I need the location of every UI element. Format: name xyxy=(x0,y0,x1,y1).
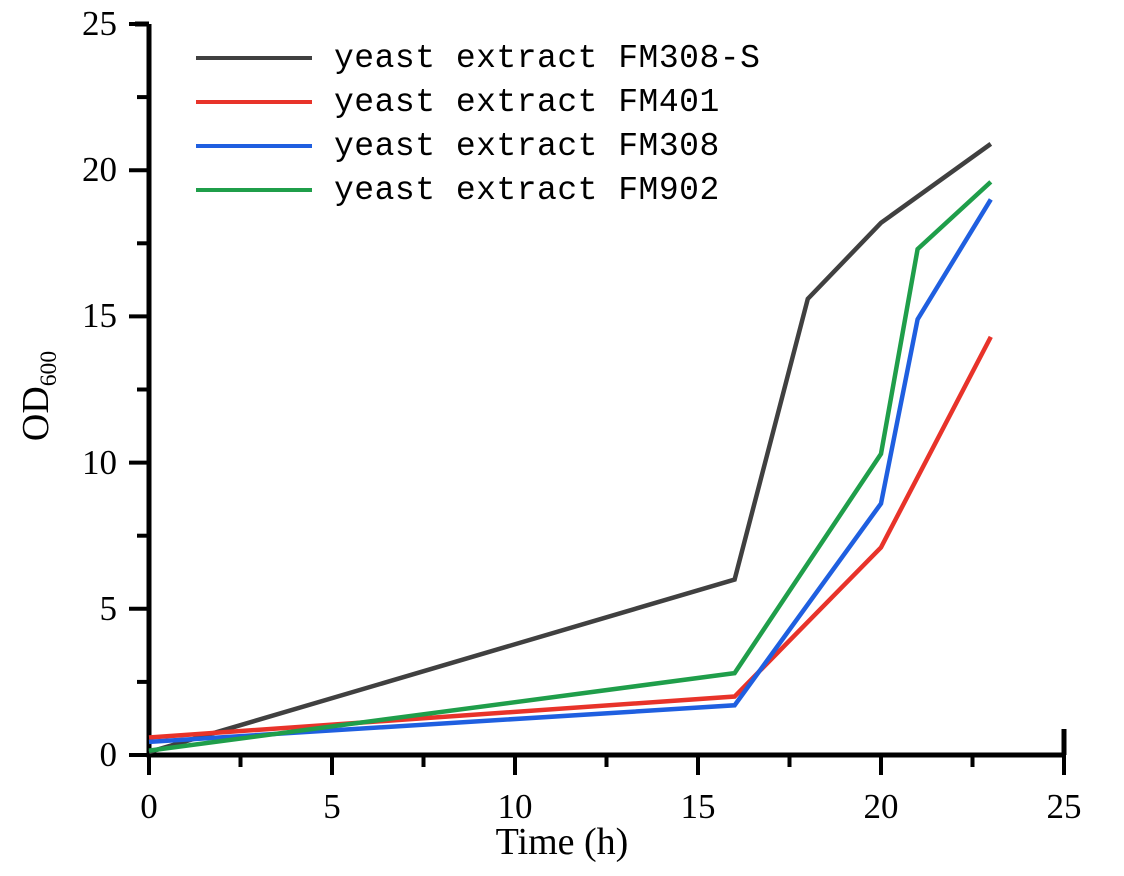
series-line-2 xyxy=(149,337,991,738)
y-tick-label: 5 xyxy=(37,591,117,626)
legend-item-label: yeast extract FM308 xyxy=(334,128,720,165)
y-tick-label: 0 xyxy=(37,737,117,772)
x-axis-title: Time (h) xyxy=(0,820,1124,864)
y-tick-label: 25 xyxy=(37,6,117,41)
y-tick-label: 20 xyxy=(37,152,117,187)
legend-line-swatch xyxy=(196,56,312,60)
y-axis-title-base: OD xyxy=(15,386,57,441)
x-tick-label: 25 xyxy=(1024,789,1104,824)
chart-figure: 0510152025 0510152025 OD600 Time (h) yea… xyxy=(0,0,1124,876)
x-tick-label: 10 xyxy=(475,789,555,824)
y-axis-title: OD600 xyxy=(14,316,58,476)
x-tick-label: 5 xyxy=(292,789,372,824)
legend-item-1[interactable]: yeast extract FM308-S xyxy=(196,36,716,80)
legend: yeast extract FM308-Syeast extract FM401… xyxy=(196,36,716,212)
legend-item-label: yeast extract FM902 xyxy=(334,172,720,209)
legend-item-3[interactable]: yeast extract FM308 xyxy=(196,124,716,168)
legend-item-2[interactable]: yeast extract FM401 xyxy=(196,80,716,124)
series-line-3 xyxy=(149,199,991,741)
x-tick-label: 20 xyxy=(841,789,921,824)
legend-item-label: yeast extract FM308-S xyxy=(334,40,760,77)
x-tick-label: 0 xyxy=(109,789,189,824)
x-tick-label: 15 xyxy=(658,789,738,824)
series-line-4 xyxy=(149,182,991,751)
data-series xyxy=(149,144,991,752)
legend-item-label: yeast extract FM401 xyxy=(334,84,720,121)
legend-item-4[interactable]: yeast extract FM902 xyxy=(196,168,716,212)
legend-line-swatch xyxy=(196,144,312,148)
series-line-1 xyxy=(149,144,991,752)
y-axis-title-subscript: 600 xyxy=(36,351,62,386)
legend-line-swatch xyxy=(196,188,312,192)
legend-line-swatch xyxy=(196,100,312,104)
